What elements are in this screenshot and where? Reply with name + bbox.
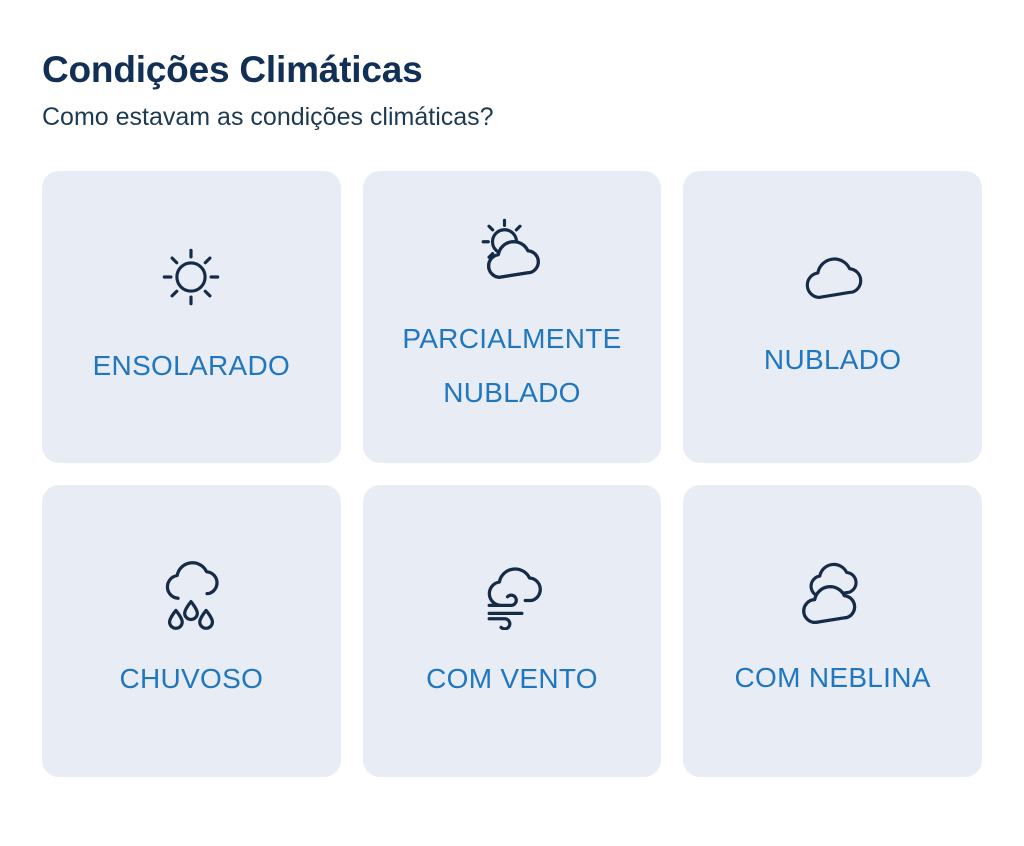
option-card-partly-cloudy[interactable]: PARCIALMENTE NUBLADO xyxy=(363,171,662,463)
option-card-windy[interactable]: COM VENTO xyxy=(363,485,662,777)
option-label-cloudy: NUBLADO xyxy=(764,333,901,388)
cloud-fog-icon xyxy=(795,557,871,629)
option-card-cloudy[interactable]: NUBLADO xyxy=(683,171,982,463)
cloud-icon xyxy=(794,247,872,307)
page-title: Condições Climáticas xyxy=(42,0,982,92)
weather-options-grid: ENSOLARADO PARCIALMENTE NUBLADO xyxy=(42,171,982,777)
sun-icon xyxy=(155,241,227,313)
weather-conditions-page: Condições Climáticas Como estavam as con… xyxy=(0,0,1024,846)
option-card-sunny[interactable]: ENSOLARADO xyxy=(42,171,341,463)
option-label-rainy: CHUVOSO xyxy=(119,652,263,707)
option-label-partly-cloudy: PARCIALMENTE NUBLADO xyxy=(387,312,637,421)
sun-behind-cloud-icon xyxy=(473,214,551,286)
option-label-windy: COM VENTO xyxy=(426,652,598,707)
page-subtitle: Como estavam as condições climáticas? xyxy=(42,92,982,134)
option-card-rainy[interactable]: CHUVOSO xyxy=(42,485,341,777)
option-card-foggy[interactable]: COM NEBLINA xyxy=(683,485,982,777)
cloud-wind-icon xyxy=(475,556,549,630)
option-label-sunny: ENSOLARADO xyxy=(93,339,291,394)
option-label-foggy: COM NEBLINA xyxy=(735,651,931,706)
cloud-rain-icon xyxy=(154,556,228,630)
